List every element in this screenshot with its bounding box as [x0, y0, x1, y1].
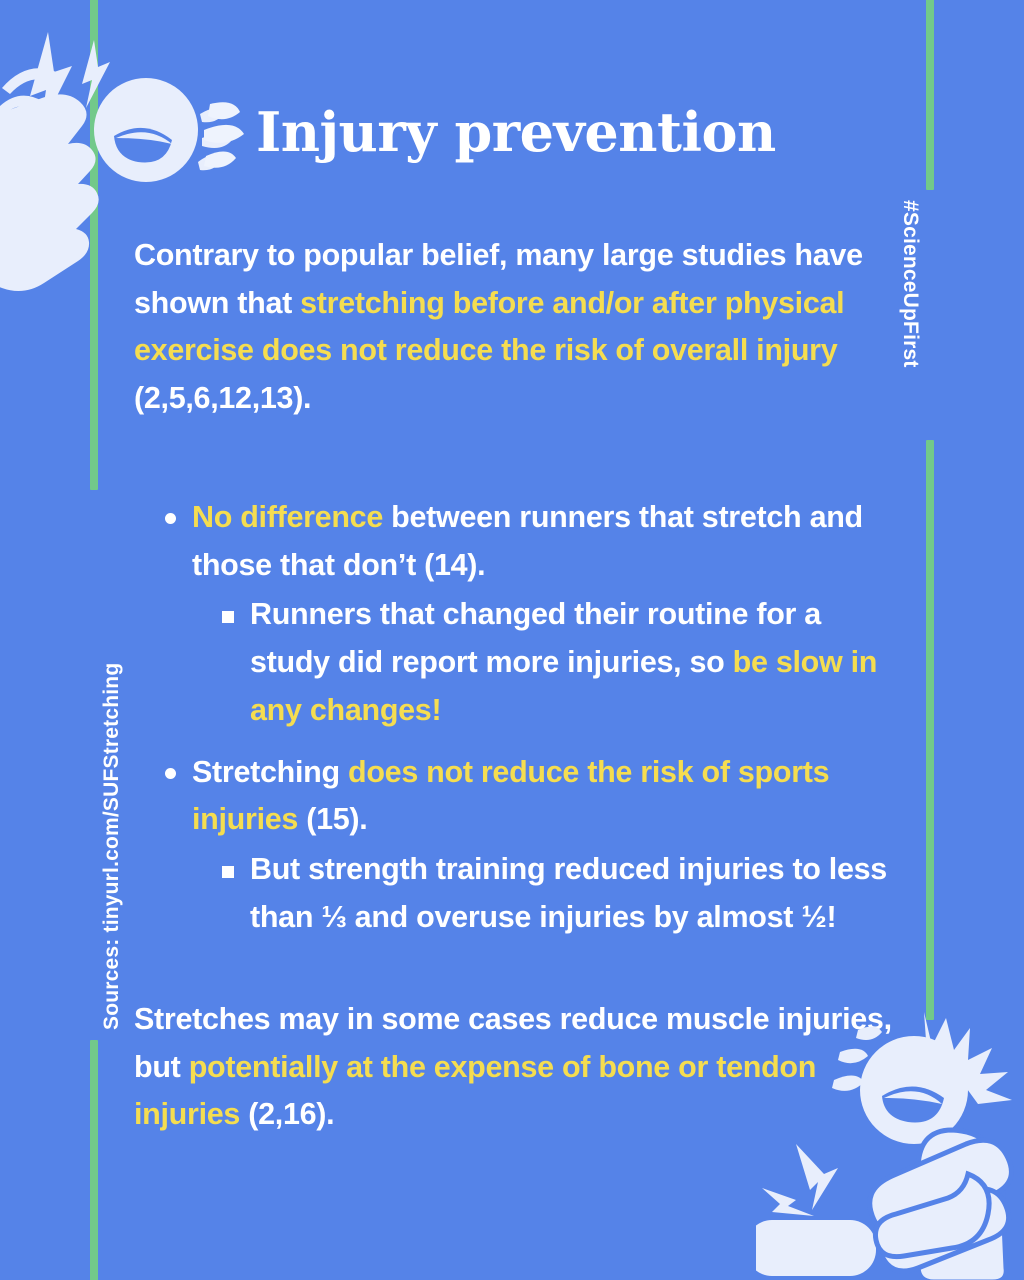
- list-item: But strength training reduced injuries t…: [134, 846, 902, 941]
- bullet-4-text: But strength training reduced injuries t…: [250, 852, 887, 934]
- sources-label: Sources: tinyurl.com/SUFStretching: [101, 663, 122, 1030]
- sitting-person-injured-knee-icon: [756, 1004, 1024, 1280]
- list-item: No difference between runners that stret…: [134, 494, 902, 589]
- intro-paragraph: Contrary to popular belief, many large s…: [134, 232, 896, 423]
- outro-text-part2: (2,16).: [240, 1097, 334, 1131]
- outro-text-highlight: potentially at the expense of bone or te…: [134, 1050, 816, 1132]
- bullet-1-highlight: No difference: [192, 500, 383, 534]
- list-item: Runners that changed their routine for a…: [134, 591, 902, 734]
- list-spacer: [134, 735, 902, 749]
- square-bullet-icon: [222, 611, 234, 623]
- infographic-poster: Injury prevention Contrary to popular be…: [0, 0, 1024, 1280]
- square-bullet-icon: [222, 866, 234, 878]
- bullet-3-text: Stretching: [192, 755, 348, 789]
- splash-marks-icon: [192, 98, 262, 178]
- hashtag-label: #ScienceUpFirst: [900, 200, 921, 368]
- accent-rail-left-bottom: [90, 1040, 98, 1280]
- bullet-3-text-2: (15).: [298, 802, 367, 836]
- disc-bullet-icon: [165, 513, 176, 524]
- accent-rail-right-top: [926, 0, 934, 190]
- intro-text-part2: (2,5,6,12,13).: [134, 381, 311, 415]
- bullet-list: No difference between runners that stret…: [134, 494, 902, 941]
- page-title: Injury prevention: [256, 104, 776, 161]
- disc-bullet-icon: [165, 768, 176, 779]
- accent-rail-right-middle: [926, 440, 934, 1020]
- list-item: Stretching does not reduce the risk of s…: [134, 749, 902, 844]
